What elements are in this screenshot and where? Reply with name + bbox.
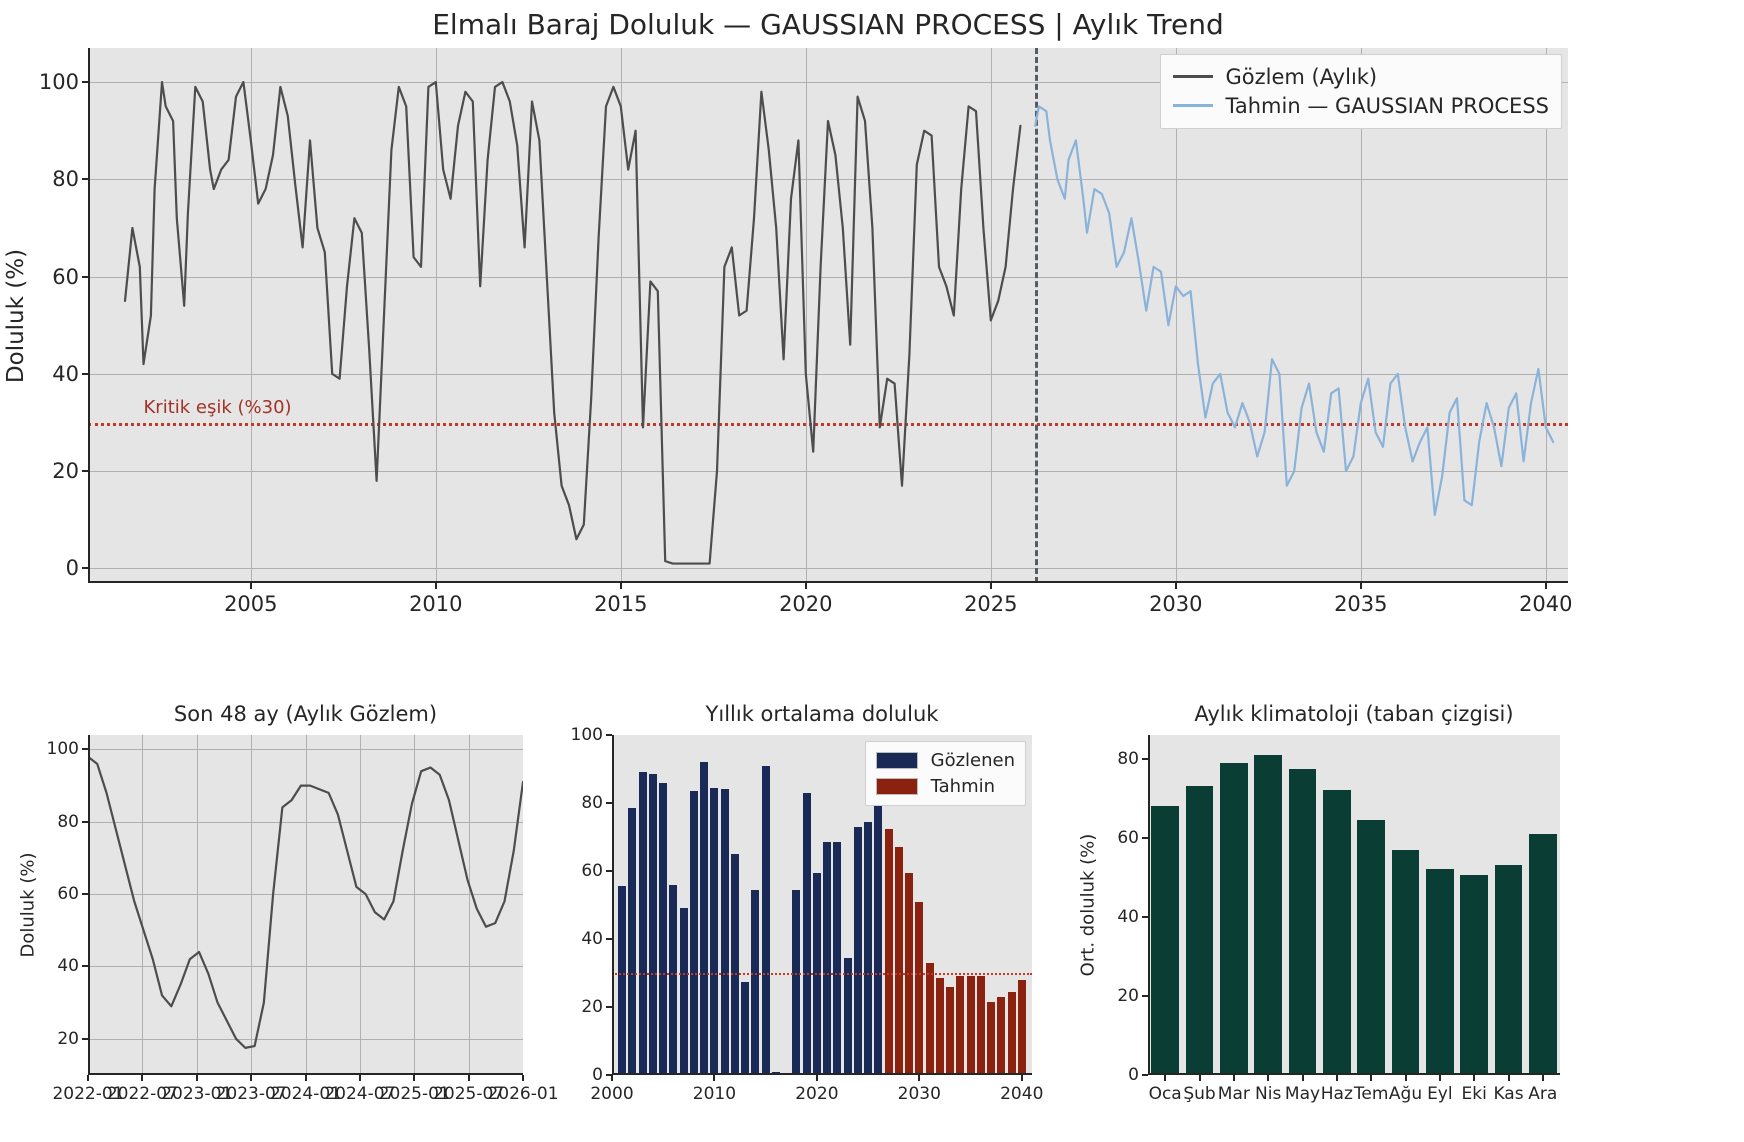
climatology-title: Aylık klimatoloji (taban çizgisi) bbox=[1148, 702, 1560, 726]
main-chart-legend: Gözlem (Aylık) Tahmin — GAUSSIAN PROCESS bbox=[1160, 54, 1562, 129]
x-tick-mark bbox=[805, 583, 807, 589]
x-tick-label: 2020 bbox=[795, 1084, 838, 1104]
y-tick-label: 100 bbox=[47, 739, 79, 759]
x-tick-label: 2010 bbox=[409, 592, 462, 616]
y-tick-label: 0 bbox=[592, 1065, 603, 1085]
y-tick-mark bbox=[606, 734, 612, 736]
y-tick-label: 80 bbox=[57, 812, 79, 832]
y-tick-label: 60 bbox=[1117, 828, 1139, 848]
x-tick-mark bbox=[1405, 1075, 1407, 1081]
x-tick-mark bbox=[468, 1075, 470, 1081]
bar-observed bbox=[803, 793, 811, 1075]
x-tick-mark bbox=[1508, 1075, 1510, 1081]
x-tick-mark bbox=[620, 583, 622, 589]
y-tick-mark bbox=[82, 470, 88, 472]
x-tick-mark bbox=[1473, 1075, 1475, 1081]
bar-climatology bbox=[1220, 763, 1247, 1075]
x-tick-label: Mar bbox=[1218, 1084, 1250, 1104]
y-tick-mark bbox=[606, 802, 612, 804]
x-tick-label: Şub bbox=[1183, 1084, 1215, 1104]
bar-observed bbox=[751, 890, 759, 1075]
y-tick-label: 80 bbox=[1117, 749, 1139, 769]
y-tick-mark bbox=[1142, 758, 1148, 760]
bar-observed bbox=[823, 842, 831, 1075]
legend-label-observed-bars: Gözlenen bbox=[931, 750, 1015, 771]
bar-observed bbox=[680, 908, 688, 1075]
climatology-y-axis-label: Ort. doluluk (%) bbox=[1078, 834, 1099, 977]
x-tick-mark bbox=[435, 583, 437, 589]
x-tick-label: 2000 bbox=[590, 1084, 633, 1104]
x-tick-label: 2040 bbox=[1519, 592, 1572, 616]
axis-spine-bottom bbox=[612, 1073, 1032, 1075]
last48-series-svg bbox=[88, 735, 523, 1075]
y-tick-mark bbox=[82, 373, 88, 375]
x-tick-mark bbox=[1267, 1075, 1269, 1081]
bar-climatology bbox=[1254, 755, 1281, 1075]
bar-climatology bbox=[1392, 850, 1419, 1075]
x-tick-mark bbox=[1336, 1075, 1338, 1081]
bar-forecast bbox=[987, 1002, 995, 1075]
main-y-axis-label: Doluluk (%) bbox=[3, 248, 29, 382]
x-tick-label: May bbox=[1285, 1084, 1320, 1104]
series-line-observed bbox=[125, 82, 1020, 564]
x-tick-label: 2020 bbox=[779, 592, 832, 616]
bar-forecast bbox=[977, 976, 985, 1075]
legend-item-forecast: Tahmin — GAUSSIAN PROCESS bbox=[1173, 91, 1549, 120]
legend-label-observed: Gözlem (Aylık) bbox=[1226, 65, 1378, 89]
bar-forecast bbox=[956, 976, 964, 1075]
x-tick-mark bbox=[141, 1075, 143, 1081]
y-tick-label: 40 bbox=[52, 362, 79, 386]
series-line-observed bbox=[88, 757, 523, 1048]
x-tick-mark bbox=[713, 1075, 715, 1081]
critical-threshold-line bbox=[612, 973, 1032, 975]
bar-observed bbox=[659, 783, 667, 1075]
legend-label-forecast: Tahmin — GAUSSIAN PROCESS bbox=[1226, 94, 1549, 118]
y-tick-mark bbox=[82, 276, 88, 278]
series-line-forecast bbox=[1035, 106, 1553, 515]
y-tick-mark bbox=[1142, 1074, 1148, 1076]
bar-observed bbox=[690, 791, 698, 1075]
legend-item-forecast-bars: Tahmin bbox=[876, 773, 1015, 799]
y-tick-label: 60 bbox=[52, 265, 79, 289]
bar-climatology bbox=[1426, 869, 1453, 1075]
page-title: Elmalı Baraj Doluluk — GAUSSIAN PROCESS … bbox=[88, 8, 1568, 41]
legend-item-observed-bars: Gözlenen bbox=[876, 747, 1015, 773]
y-tick-label: 40 bbox=[1117, 907, 1139, 927]
bar-observed bbox=[864, 822, 872, 1075]
y-tick-label: 80 bbox=[581, 793, 603, 813]
x-tick-label: 2030 bbox=[1149, 592, 1202, 616]
y-tick-mark bbox=[1142, 837, 1148, 839]
x-tick-mark bbox=[413, 1075, 415, 1081]
bar-observed bbox=[874, 764, 882, 1075]
bar-forecast bbox=[936, 978, 944, 1075]
y-tick-mark bbox=[82, 178, 88, 180]
x-tick-mark bbox=[1199, 1075, 1201, 1081]
y-tick-label: 0 bbox=[1128, 1065, 1139, 1085]
x-tick-label: 2026-01 bbox=[487, 1084, 558, 1104]
bar-observed bbox=[721, 789, 729, 1075]
x-tick-mark bbox=[1545, 583, 1547, 589]
bar-observed bbox=[700, 762, 708, 1075]
y-tick-label: 40 bbox=[57, 956, 79, 976]
bar-forecast bbox=[967, 976, 975, 1075]
y-tick-label: 20 bbox=[57, 1029, 79, 1049]
x-tick-mark bbox=[305, 1075, 307, 1081]
bar-forecast bbox=[1018, 980, 1026, 1075]
y-tick-label: 100 bbox=[39, 70, 79, 94]
x-tick-mark bbox=[1175, 583, 1177, 589]
y-tick-label: 20 bbox=[581, 997, 603, 1017]
bar-observed bbox=[731, 854, 739, 1075]
x-tick-label: Ara bbox=[1528, 1084, 1557, 1104]
x-tick-mark bbox=[611, 1075, 613, 1081]
bar-climatology bbox=[1357, 820, 1384, 1075]
x-tick-label: Oca bbox=[1149, 1084, 1182, 1104]
y-tick-label: 60 bbox=[581, 861, 603, 881]
x-tick-label: Tem bbox=[1354, 1084, 1389, 1104]
legend-swatch-observed-bars bbox=[876, 752, 918, 769]
x-tick-label: 2025 bbox=[964, 592, 1017, 616]
x-tick-mark bbox=[359, 1075, 361, 1081]
bar-climatology bbox=[1460, 875, 1487, 1075]
bar-observed bbox=[628, 808, 636, 1075]
x-tick-mark bbox=[87, 1075, 89, 1081]
bar-observed bbox=[710, 788, 718, 1075]
y-tick-label: 20 bbox=[52, 459, 79, 483]
bar-forecast bbox=[946, 987, 954, 1075]
y-tick-mark bbox=[82, 567, 88, 569]
x-tick-mark bbox=[196, 1075, 198, 1081]
y-tick-mark bbox=[82, 748, 88, 750]
axis-spine-left bbox=[88, 48, 90, 583]
axis-spine-bottom bbox=[1148, 1073, 1560, 1075]
y-tick-mark bbox=[1142, 916, 1148, 918]
y-tick-label: 20 bbox=[1117, 986, 1139, 1006]
bar-observed bbox=[741, 982, 749, 1076]
x-tick-label: Ağu bbox=[1389, 1084, 1422, 1104]
x-tick-label: Haz bbox=[1321, 1084, 1353, 1104]
y-tick-label: 80 bbox=[52, 167, 79, 191]
x-tick-mark bbox=[250, 1075, 252, 1081]
x-tick-label: 2015 bbox=[594, 592, 647, 616]
legend-label-forecast-bars: Tahmin bbox=[931, 776, 995, 797]
x-tick-label: 2035 bbox=[1334, 592, 1387, 616]
y-tick-mark bbox=[82, 893, 88, 895]
bar-observed bbox=[639, 772, 647, 1075]
bar-climatology bbox=[1495, 865, 1522, 1075]
last48-chart-axes: Son 48 ay (Aylık Gözlem) Doluluk (%) 204… bbox=[88, 735, 523, 1075]
legend-swatch-observed bbox=[1173, 75, 1213, 78]
bar-forecast bbox=[997, 997, 1005, 1075]
bar-forecast bbox=[885, 829, 893, 1076]
x-tick-mark bbox=[1021, 1075, 1023, 1081]
bar-observed bbox=[649, 774, 657, 1075]
y-tick-mark bbox=[606, 938, 612, 940]
y-tick-mark bbox=[606, 870, 612, 872]
y-tick-mark bbox=[606, 1006, 612, 1008]
y-tick-mark bbox=[82, 81, 88, 83]
legend-swatch-forecast-bars bbox=[876, 778, 918, 795]
main-chart-axes: Doluluk (%) Kritik eşik (%30) Gözlem (Ay… bbox=[88, 48, 1568, 583]
bar-forecast bbox=[915, 902, 923, 1075]
annual-chart-axes: Yıllık ortalama doluluk Gözlenen Tahmin … bbox=[612, 735, 1032, 1075]
x-tick-mark bbox=[1302, 1075, 1304, 1081]
bar-observed bbox=[762, 766, 770, 1075]
x-tick-label: Kas bbox=[1493, 1084, 1523, 1104]
bar-forecast bbox=[1008, 992, 1016, 1075]
x-tick-mark bbox=[918, 1075, 920, 1081]
x-tick-mark bbox=[1439, 1075, 1441, 1081]
x-tick-mark bbox=[1233, 1075, 1235, 1081]
bar-observed bbox=[844, 958, 852, 1075]
x-tick-mark bbox=[1164, 1075, 1166, 1081]
bar-climatology bbox=[1529, 834, 1556, 1075]
last48-title: Son 48 ay (Aylık Gözlem) bbox=[88, 702, 523, 726]
x-tick-label: 2030 bbox=[898, 1084, 941, 1104]
legend-swatch-forecast bbox=[1173, 104, 1213, 107]
bar-climatology bbox=[1151, 806, 1178, 1075]
axis-spine-left bbox=[88, 735, 90, 1075]
x-tick-label: 2040 bbox=[1000, 1084, 1043, 1104]
y-tick-mark bbox=[1142, 995, 1148, 997]
legend-item-observed: Gözlem (Aylık) bbox=[1173, 62, 1549, 91]
x-tick-label: Eyl bbox=[1427, 1084, 1453, 1104]
x-tick-label: 2005 bbox=[224, 592, 277, 616]
y-tick-label: 100 bbox=[571, 725, 603, 745]
y-tick-mark bbox=[82, 821, 88, 823]
y-tick-mark bbox=[82, 1038, 88, 1040]
axis-spine-left bbox=[1148, 735, 1150, 1075]
bar-observed bbox=[833, 842, 841, 1075]
x-tick-mark bbox=[990, 583, 992, 589]
y-tick-label: 0 bbox=[66, 556, 79, 580]
bar-observed bbox=[618, 886, 626, 1075]
x-tick-mark bbox=[522, 1075, 524, 1081]
last48-plot-area bbox=[88, 735, 523, 1075]
x-tick-label: 2010 bbox=[693, 1084, 736, 1104]
x-tick-mark bbox=[1542, 1075, 1544, 1081]
annual-chart-legend: Gözlenen Tahmin bbox=[865, 741, 1026, 806]
bar-observed bbox=[854, 827, 862, 1075]
x-tick-mark bbox=[1360, 583, 1362, 589]
bar-climatology bbox=[1289, 769, 1316, 1075]
bar-climatology bbox=[1323, 790, 1350, 1075]
climatology-chart-axes: Aylık klimatoloji (taban çizgisi) Ort. d… bbox=[1148, 735, 1560, 1075]
figure-canvas: Elmalı Baraj Doluluk — GAUSSIAN PROCESS … bbox=[0, 0, 1744, 1142]
bar-observed bbox=[669, 885, 677, 1075]
x-tick-label: Nis bbox=[1255, 1084, 1281, 1104]
bar-forecast bbox=[895, 847, 903, 1075]
bar-observed bbox=[792, 890, 800, 1075]
x-tick-mark bbox=[1370, 1075, 1372, 1081]
y-tick-label: 40 bbox=[581, 929, 603, 949]
last48-y-axis-label: Doluluk (%) bbox=[18, 853, 39, 958]
bar-climatology bbox=[1186, 786, 1213, 1075]
axis-spine-left bbox=[612, 735, 614, 1075]
x-tick-mark bbox=[250, 583, 252, 589]
climatology-plot-area bbox=[1148, 735, 1560, 1075]
annual-title: Yıllık ortalama doluluk bbox=[612, 702, 1032, 726]
y-tick-mark bbox=[82, 965, 88, 967]
y-tick-label: 60 bbox=[57, 884, 79, 904]
bar-forecast bbox=[926, 963, 934, 1075]
x-tick-label: Eki bbox=[1462, 1084, 1487, 1104]
x-tick-mark bbox=[816, 1075, 818, 1081]
axis-spine-bottom bbox=[88, 581, 1568, 583]
